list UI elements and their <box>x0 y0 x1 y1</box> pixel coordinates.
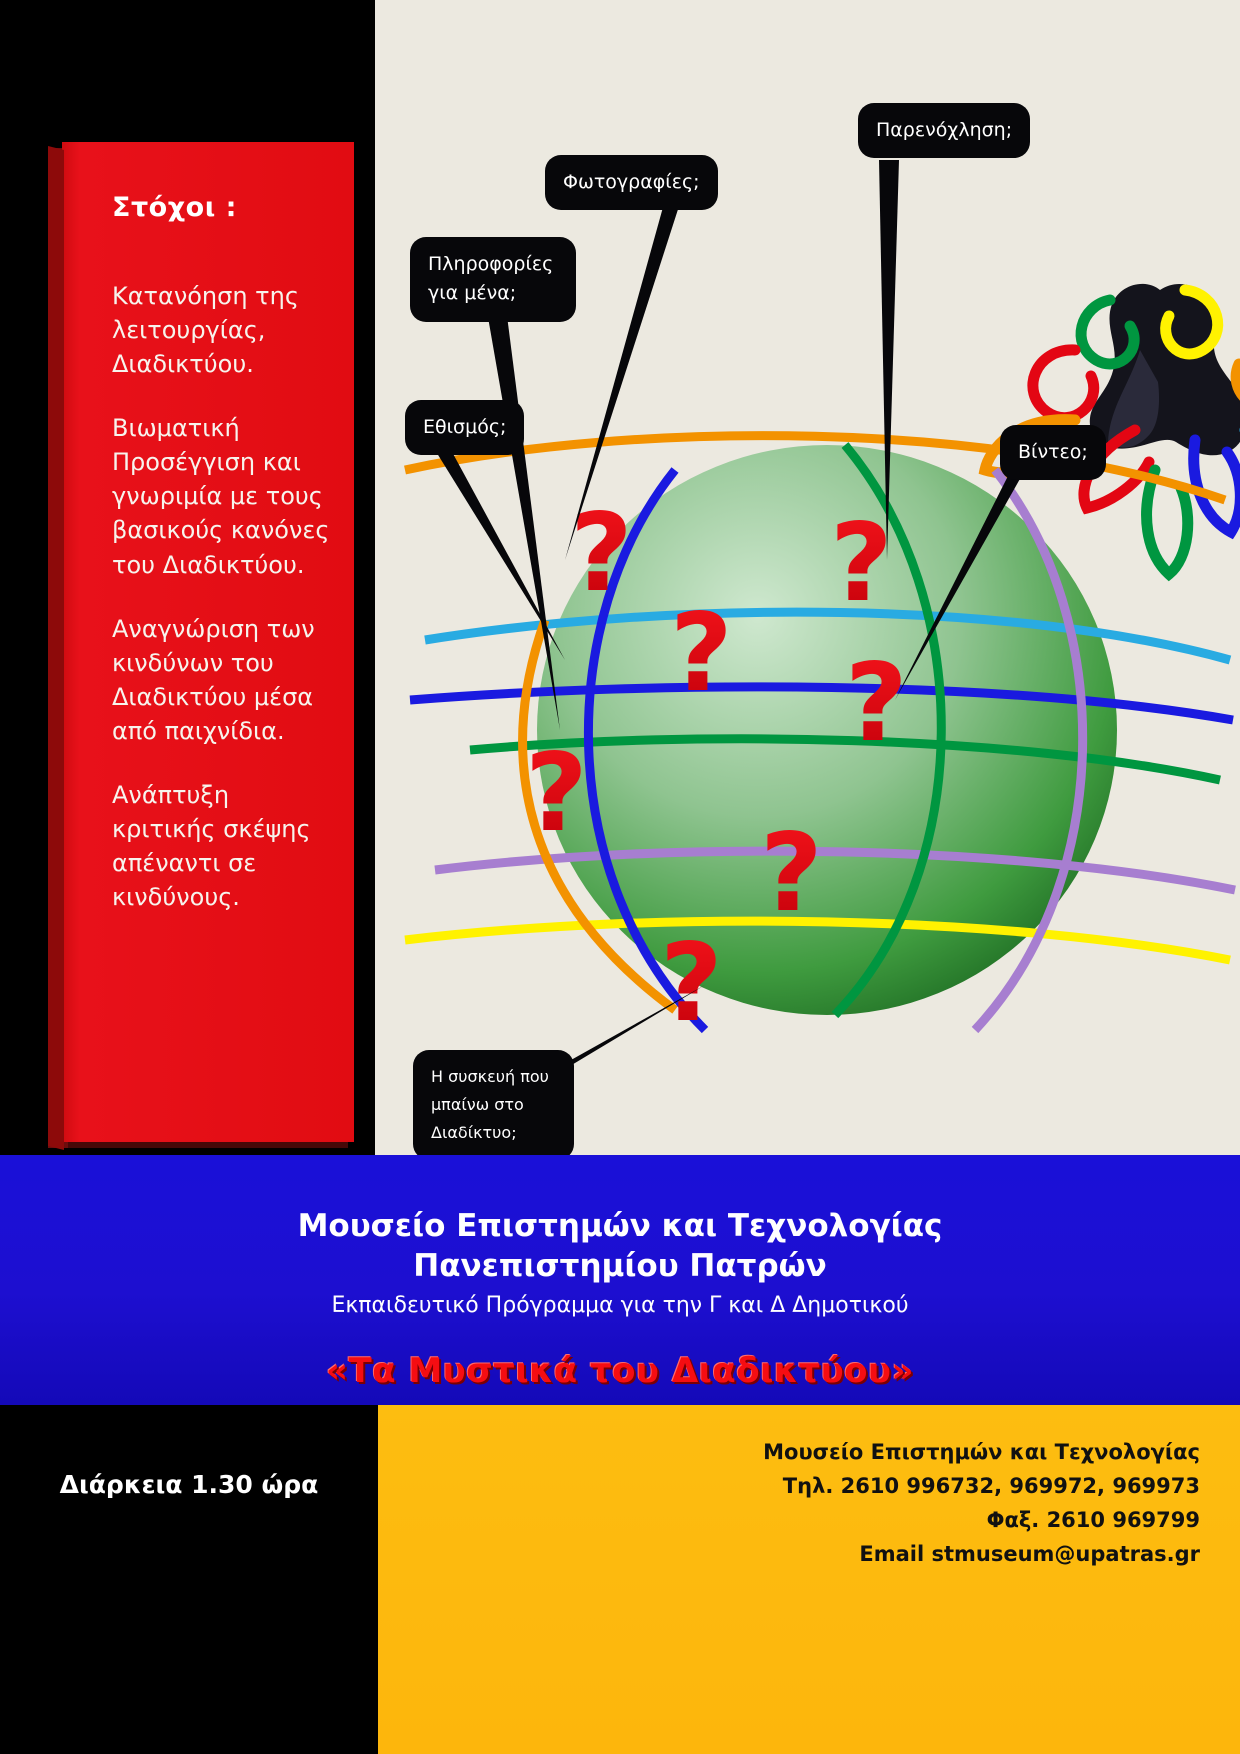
svg-text:?: ? <box>760 811 823 936</box>
globe-illustration: ? ? ? ? ? ? ? <box>375 0 1240 1155</box>
svg-text:?: ? <box>670 591 733 716</box>
svg-text:?: ? <box>525 731 588 856</box>
museum-name-line1: Μουσείο Επιστημών και Τεχνολογίας <box>0 1207 1240 1247</box>
objective-item-2: Βιωματική Προσέγγιση και γνωριμία με του… <box>112 411 334 581</box>
svg-text:?: ? <box>570 491 633 616</box>
contact-line-fax: Φαξ. 2610 969799 <box>763 1503 1200 1537</box>
objective-item-4: Ανάπτυξη κριτικής σκέψης απέναντι σε κιν… <box>112 778 334 914</box>
bubble-plirofories[interactable]: Πληροφορίες για μένα; <box>410 237 576 322</box>
bubble-ethismos[interactable]: Εθισμός; <box>405 400 524 455</box>
contact-line-email[interactable]: Email stmuseum@upatras.gr <box>763 1537 1200 1571</box>
objectives-title: Στόχοι : <box>112 192 334 223</box>
svg-text:?: ? <box>830 501 893 626</box>
contact-panel: Μουσείο Επιστημών και Τεχνολογίας Τηλ. 2… <box>378 1405 1240 1754</box>
duration-panel <box>0 1405 378 1754</box>
museum-name: Μουσείο Επιστημών και Τεχνολογίας Πανεπι… <box>0 1207 1240 1286</box>
svg-text:?: ? <box>660 921 723 1046</box>
program-subtitle: Εκπαιδευτικό Πρόγραμμα για την Γ και Δ Δ… <box>0 1293 1240 1318</box>
bubble-parenochlisi[interactable]: Παρενόχληση; <box>858 103 1030 158</box>
illustration-stage: ? ? ? ? ? ? ? Παρενόχληση; Φωτογραφίες; … <box>375 0 1240 1155</box>
bubble-video[interactable]: Βίντεο; <box>1000 425 1106 480</box>
bubble-fotografies[interactable]: Φωτογραφίες; <box>545 155 718 210</box>
program-title: «Τα Μυστικά του Διαδικτύου» <box>0 1351 1240 1391</box>
contact-block: Μουσείο Επιστημών και Τεχνολογίας Τηλ. 2… <box>763 1435 1200 1571</box>
objective-item-3: Αναγνώριση των κινδύνων του Διαδικτύου μ… <box>112 612 334 748</box>
svg-text:?: ? <box>845 641 908 766</box>
objective-item-1: Κατανόηση της λειτουργίας, Διαδικτύου. <box>112 279 334 381</box>
duration-text: Διάρκεια 1.30 ώρα <box>0 1470 378 1499</box>
blue-footer-band: Μουσείο Επιστημών και Τεχνολογίας Πανεπι… <box>0 1155 1240 1405</box>
museum-name-line2: Πανεπιστημίου Πατρών <box>0 1247 1240 1287</box>
bubble-syskevi[interactable]: Η συσκευή που μπαίνω στο Διαδίκτυο; <box>413 1050 574 1155</box>
poster-root: ? ? ? ? ? ? ? Παρενόχληση; Φωτογραφίες; … <box>0 0 1240 1754</box>
contact-line-museum: Μουσείο Επιστημών και Τεχνολογίας <box>763 1435 1200 1469</box>
contact-line-phone: Τηλ. 2610 996732, 969972, 969973 <box>763 1469 1200 1503</box>
objectives-panel: Στόχοι : Κατανόηση της λειτουργίας, Διαδ… <box>62 142 354 1142</box>
